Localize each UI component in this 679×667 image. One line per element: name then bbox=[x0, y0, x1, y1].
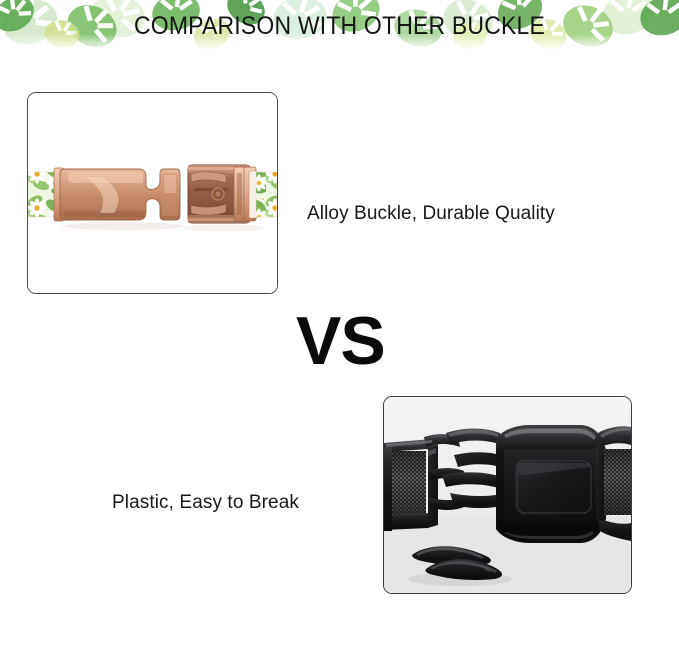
plastic-buckle-caption: Plastic, Easy to Break bbox=[112, 492, 299, 514]
comparison-infographic: COMPARISON WITH OTHER BUCKLE bbox=[0, 0, 679, 667]
alloy-buckle-photo-frame bbox=[27, 92, 278, 294]
plastic-buckle-photo bbox=[384, 397, 631, 593]
vs-divider-label: VS bbox=[296, 307, 385, 375]
page-title: COMPARISON WITH OTHER BUCKLE bbox=[27, 11, 652, 41]
plastic-buckle-photo-frame bbox=[383, 396, 632, 594]
alloy-buckle-caption: Alloy Buckle, Durable Quality bbox=[307, 203, 555, 225]
alloy-buckle-photo bbox=[28, 93, 277, 293]
header-banner: COMPARISON WITH OTHER BUCKLE bbox=[0, 0, 679, 58]
